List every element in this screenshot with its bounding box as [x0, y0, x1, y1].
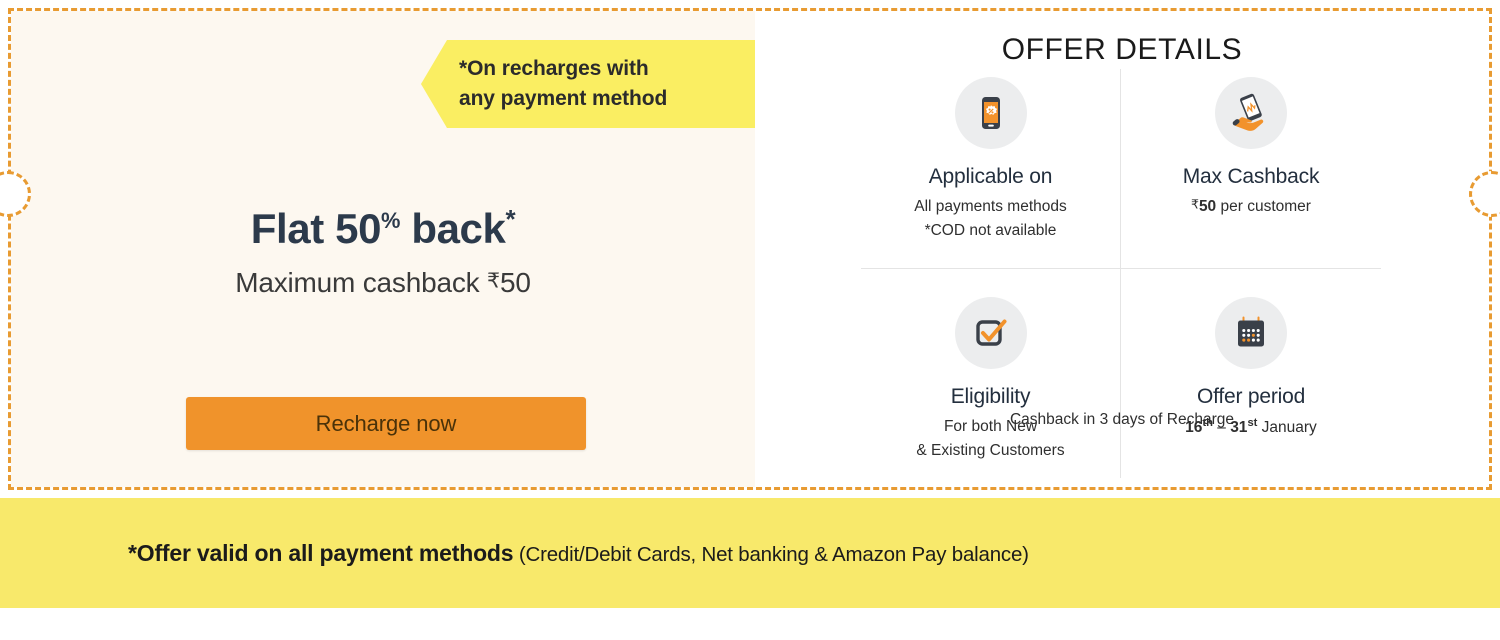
detail-sub: ₹50 per customer: [1127, 195, 1375, 219]
subhead-prefix: Maximum cashback: [235, 267, 487, 298]
detail-cell-offer-period: Offer period 16th – 31st January: [1121, 269, 1381, 478]
offer-details-title: OFFER DETAILS: [755, 33, 1489, 67]
coupon-left-panel: *On recharges with any payment method Fl…: [11, 11, 755, 487]
detail-sub-line-1: All payments methods: [867, 195, 1114, 219]
offer-details-panel: OFFER DETAILS: [755, 11, 1489, 487]
detail-title: Max Cashback: [1127, 165, 1375, 189]
detail-title: Applicable on: [867, 165, 1114, 189]
payment-methods-strip: *Offer valid on all payment methods (Cre…: [0, 498, 1500, 608]
strip-bold-text: *Offer valid on all payment methods: [128, 540, 513, 566]
detail-title: Offer period: [1127, 385, 1375, 409]
cashback-footnote: Cashback in 3 days of Recharge: [755, 411, 1489, 429]
checkbox-check-icon: [955, 297, 1027, 369]
headline-asterisk: *: [505, 204, 515, 234]
detail-cell-eligibility: Eligibility For both New & Existing Cust…: [861, 269, 1121, 478]
hand-holding-phone-icon: [1215, 77, 1287, 149]
subhead-amount: 50: [500, 267, 531, 298]
coupon-card: *On recharges with any payment method Fl…: [8, 8, 1492, 490]
detail-cell-applicable-on: Applicable on All payments methods *COD …: [861, 69, 1121, 269]
hero-text-block: Flat 50% back* Maximum cashback ₹50: [11, 207, 755, 299]
detail-amount: 50: [1199, 198, 1216, 215]
ribbon-line-2: any payment method: [459, 84, 756, 114]
ribbon-callout: *On recharges with any payment method: [421, 40, 756, 128]
rupee-symbol: ₹: [487, 270, 500, 293]
detail-cell-max-cashback: Max Cashback ₹50 per customer: [1121, 69, 1381, 269]
detail-title: Eligibility: [867, 385, 1114, 409]
headline-prefix: Flat 50: [251, 205, 381, 252]
calendar-icon: [1215, 297, 1287, 369]
headline-suffix: back: [400, 205, 505, 252]
rupee-symbol: ₹: [1191, 198, 1199, 212]
strip-light-text: (Credit/Debit Cards, Net banking & Amazo…: [513, 543, 1028, 566]
headline-percent: %: [381, 208, 400, 233]
mobile-percent-icon: [955, 77, 1027, 149]
hero-headline: Flat 50% back*: [11, 207, 755, 251]
ribbon-line-1: *On recharges with: [459, 54, 756, 84]
detail-sub-rest: per customer: [1216, 198, 1311, 215]
detail-sub: All payments methods *COD not available: [867, 195, 1114, 242]
promo-banner: *On recharges with any payment method Fl…: [0, 0, 1500, 640]
strip-text: *Offer valid on all payment methods (Cre…: [128, 540, 1029, 567]
detail-sub-line-2: *COD not available: [867, 219, 1114, 243]
recharge-now-button[interactable]: Recharge now: [186, 397, 586, 450]
hero-subhead: Maximum cashback ₹50: [11, 267, 755, 299]
detail-sub-line-2: & Existing Customers: [867, 439, 1114, 463]
